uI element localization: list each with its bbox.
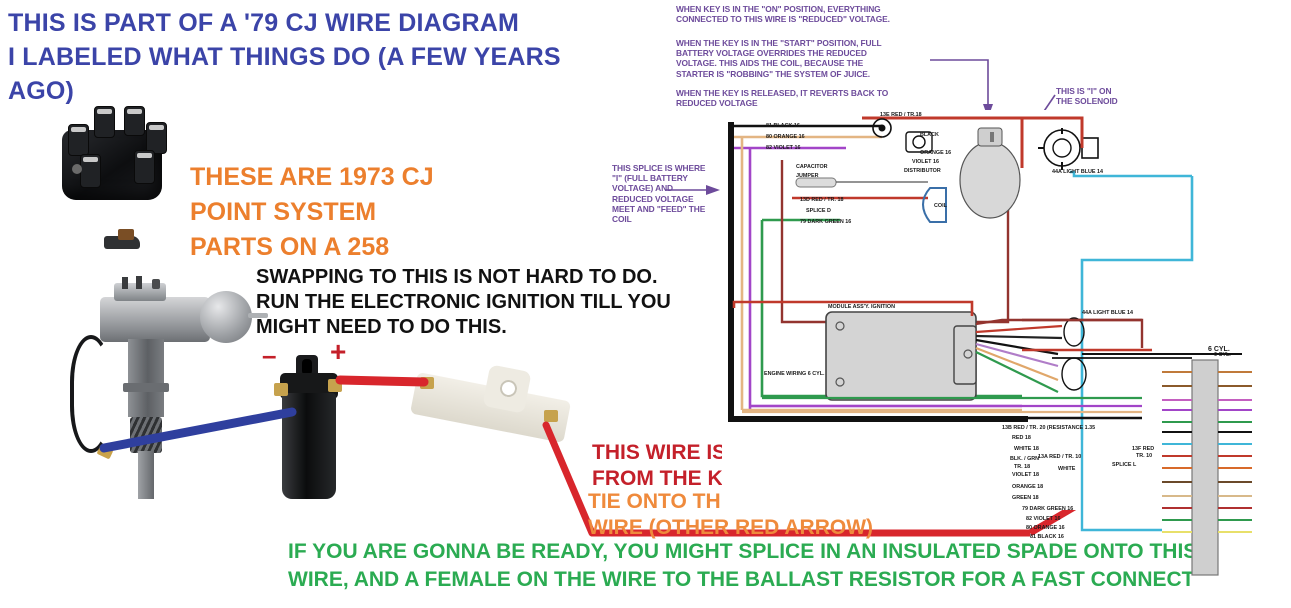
wire-label: VIOLET 16 <box>912 159 939 165</box>
wiring-diagram-svg <box>722 110 1282 510</box>
wire-label: 44A LIGHT BLUE 14 <box>1052 169 1103 175</box>
wire-label: 81 BLACK 16 <box>1030 534 1064 540</box>
wire-label: SPLICE L <box>1112 462 1136 468</box>
wire-label: CAPACITOR <box>796 164 828 170</box>
wire-label: DISTRIBUTOR <box>904 168 941 174</box>
wire-label: 79 DARK GREEN 16 <box>1022 506 1073 512</box>
wire-label: GREEN 18 <box>1012 495 1039 501</box>
wire-label: TR. 10 <box>1136 453 1152 459</box>
wire-label: 13E RED / TR.18 <box>880 112 922 118</box>
wiring-diagram: 13E RED / TR.1881 BLACK 1680 ORANGE 1682… <box>722 110 1282 510</box>
wire-label: 13F RED <box>1132 446 1154 452</box>
wire-label: SPLICE D <box>806 208 831 214</box>
screenshot-root: THIS IS PART OF A '79 CJ WIRE DIAGRAM I … <box>0 0 1291 608</box>
wire-label: 82 VIOLET 16 <box>766 145 800 151</box>
wire-label: TR. 18 <box>1014 464 1030 470</box>
wire-label: JUMPER <box>796 173 818 179</box>
wire-label: 81 BLACK 16 <box>766 123 800 129</box>
wire-label: COIL <box>934 203 947 209</box>
wire-label: RED 18 <box>1012 435 1031 441</box>
wire-label: 82 VIOLET 16 <box>1026 516 1060 522</box>
wire-label: ORANGE 18 <box>1012 484 1043 490</box>
wire-label: ORANGE 16 <box>920 150 951 156</box>
wire-label: BLACK <box>920 132 939 138</box>
wire-label: WHITE <box>1058 466 1075 472</box>
wire-label: 80 ORANGE 16 <box>1026 525 1065 531</box>
wire-label: 13D RED / TR. 18 <box>800 197 843 203</box>
wire-label: ENGINE WIRING 6 CYL. <box>764 371 825 377</box>
wire-label: 44A LIGHT BLUE 14 <box>1082 310 1133 316</box>
wire-label: 80 ORANGE 16 <box>766 134 805 140</box>
wire-label: MODULE ASS'Y. IGNITION <box>828 304 895 310</box>
wire-label: BLK. / GRN <box>1010 456 1039 462</box>
wire-label: 13B RED / TR. 20 (RESISTANCE 1.35 <box>1002 425 1095 431</box>
connector-title: 6 CYL. <box>1208 346 1230 353</box>
wire-label: WHITE 18 <box>1014 446 1039 452</box>
wire-label: 79 DARK GREEN 16 <box>800 219 851 225</box>
wire-label: 13A RED / TR. 10 <box>1038 454 1081 460</box>
wire-label: VIOLET 18 <box>1012 472 1039 478</box>
